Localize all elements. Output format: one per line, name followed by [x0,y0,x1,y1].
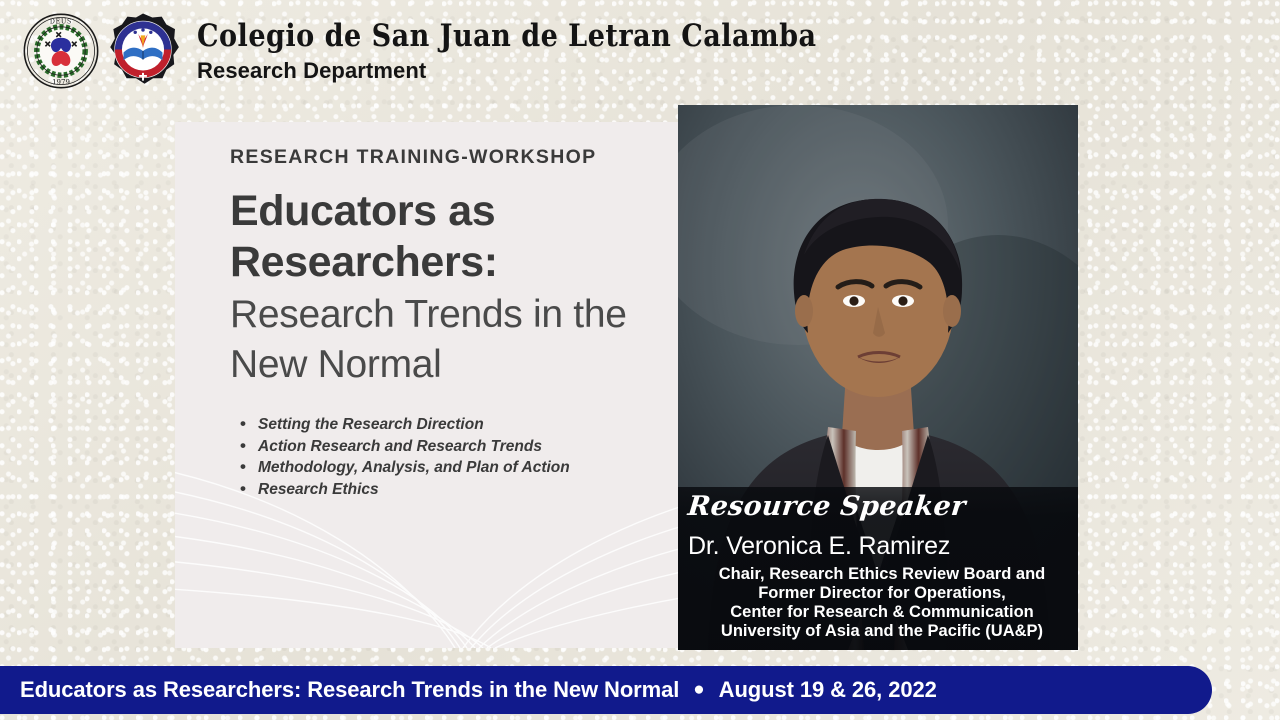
banner-text-group: Educators as Researchers: Research Trend… [20,677,937,703]
speaker-affiliation: Chair, Research Ethics Review Board and … [686,565,1078,641]
affiliation-line: University of Asia and the Pacific (UA&P… [686,622,1078,641]
poster-title-sub: Research Trends in the New Normal [230,290,630,390]
speaker-info-overlay: Resource Speaker Dr. Veronica E. Ramirez… [678,487,1078,650]
speaker-name: Dr. Veronica E. Ramirez [688,532,950,561]
affiliation-line: Chair, Research Ethics Review Board and [686,565,1078,584]
banner-title: Educators as Researchers: Research Trend… [20,677,679,703]
topic-list: Setting the Research Direction Action Re… [230,414,717,500]
poster-card: RESEARCH TRAINING-WORKSHOP Educators as … [175,122,737,648]
header-title-group: Colegio de San Juan de Letran Calamba Re… [197,20,836,84]
speaker-photo: Resource Speaker Dr. Veronica E. Ramirez… [678,105,1078,650]
list-item: Action Research and Research Trends [230,436,717,458]
department-name: Research Department [197,58,836,84]
bottom-banner: Educators as Researchers: Research Trend… [0,666,1212,714]
svg-text:1979: 1979 [52,78,70,87]
poster-card-content: RESEARCH TRAINING-WORKSHOP Educators as … [230,146,717,500]
list-item: Methodology, Analysis, and Plan of Actio… [230,457,717,479]
poster-kicker: RESEARCH TRAINING-WORKSHOP [230,146,717,169]
research-department-seal-logo [104,12,182,90]
resource-speaker-label: Resource Speaker [686,491,967,522]
affiliation-line: Center for Research & Communication [686,603,1078,622]
banner-separator-dot: ● [693,679,704,701]
banner-dates: August 19 & 26, 2022 [719,677,937,703]
affiliation-line: Former Director for Operations, [686,584,1078,603]
list-item: Setting the Research Direction [230,414,717,436]
svg-text:DEUS: DEUS [50,19,72,26]
list-item: Research Ethics [230,479,717,501]
poster-title-main: Educators as Researchers: [230,186,717,288]
letran-seal-logo: 1979 DEUS [22,12,100,90]
page-header: 1979 DEUS Colegio de San Juan de Letran … [0,0,1280,100]
school-name: Colegio de San Juan de Letran Calamba [197,20,817,53]
